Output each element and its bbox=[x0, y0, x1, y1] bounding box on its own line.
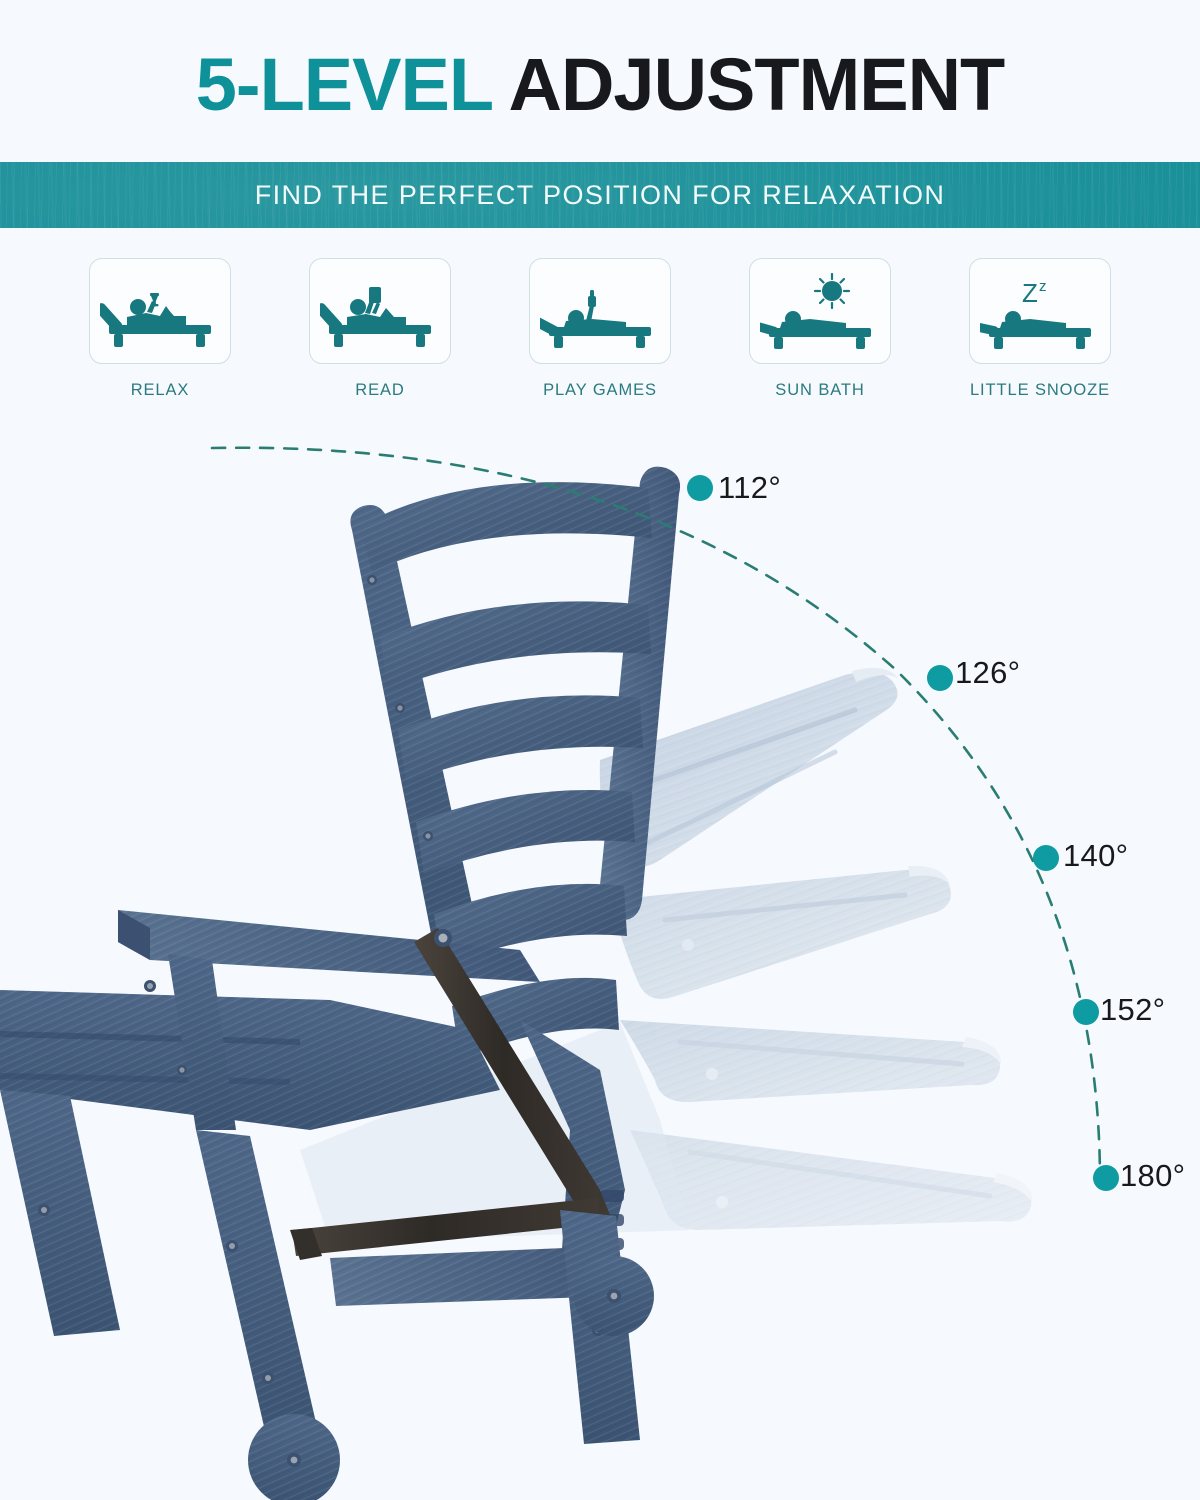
feature-icon-box bbox=[529, 258, 671, 364]
backrest-slats bbox=[380, 601, 651, 1058]
feature-label: SUN BATH bbox=[775, 381, 864, 400]
angle-dot-112 bbox=[687, 475, 713, 501]
feature-item-little-snooze[interactable]: Z z LITTLE SNOOZE bbox=[940, 258, 1140, 418]
feature-label: READ bbox=[355, 381, 404, 400]
angle-dot-126 bbox=[927, 665, 953, 691]
angle-dot-180 bbox=[1093, 1165, 1119, 1191]
feature-label: LITTLE SNOOZE bbox=[970, 381, 1110, 400]
angle-label-112: 112° bbox=[718, 470, 781, 506]
angle-label-140: 140° bbox=[1063, 838, 1128, 874]
ghost-backrest-180 bbox=[630, 1130, 1032, 1230]
angle-label-180: 180° bbox=[1120, 1158, 1185, 1194]
subtitle-text: FIND THE PERFECT POSITION FOR RELAXATION bbox=[255, 180, 946, 211]
feature-item-read[interactable]: READ bbox=[280, 258, 480, 418]
feature-item-relax[interactable]: RELAX bbox=[60, 258, 260, 418]
ghost-backrest-152 bbox=[620, 1020, 1001, 1102]
feature-icon-box bbox=[309, 258, 451, 364]
feature-item-play-games[interactable]: PLAY GAMES bbox=[500, 258, 700, 418]
person-sleeping-zzz-icon: Z z bbox=[980, 269, 1100, 353]
angle-dot-140 bbox=[1033, 845, 1059, 871]
angle-label-152: 152° bbox=[1100, 992, 1165, 1028]
feature-icon-box: Z z bbox=[969, 258, 1111, 364]
feature-icon-box bbox=[749, 258, 891, 364]
page-title: 5-LEVEL ADJUSTMENT bbox=[0, 48, 1200, 122]
feature-icon-box bbox=[89, 258, 231, 364]
page-title-accent: 5-LEVEL bbox=[196, 43, 492, 126]
chaise-lounge-diagram bbox=[0, 430, 1200, 1500]
person-playing-device-icon bbox=[540, 269, 660, 353]
svg-text:z: z bbox=[1039, 278, 1047, 295]
feature-item-sun-bath[interactable]: SUN BATH bbox=[720, 258, 920, 418]
feature-label: RELAX bbox=[131, 381, 190, 400]
angle-dot-152 bbox=[1073, 999, 1099, 1025]
page-title-rest: ADJUSTMENT bbox=[492, 43, 1005, 126]
subtitle-banner: FIND THE PERFECT POSITION FOR RELAXATION bbox=[0, 162, 1200, 228]
person-reclining-with-drink-icon bbox=[100, 269, 220, 353]
person-sunbathing-icon bbox=[760, 269, 880, 353]
person-reading-book-icon bbox=[320, 269, 440, 353]
feature-label: PLAY GAMES bbox=[543, 381, 657, 400]
ghost-backrest-140 bbox=[610, 866, 951, 999]
chair-recline-illustration bbox=[0, 430, 1200, 1500]
angle-label-126: 126° bbox=[955, 655, 1020, 691]
feature-icon-row: RELAX READ bbox=[60, 258, 1140, 418]
svg-text:Z: Z bbox=[1022, 278, 1038, 308]
